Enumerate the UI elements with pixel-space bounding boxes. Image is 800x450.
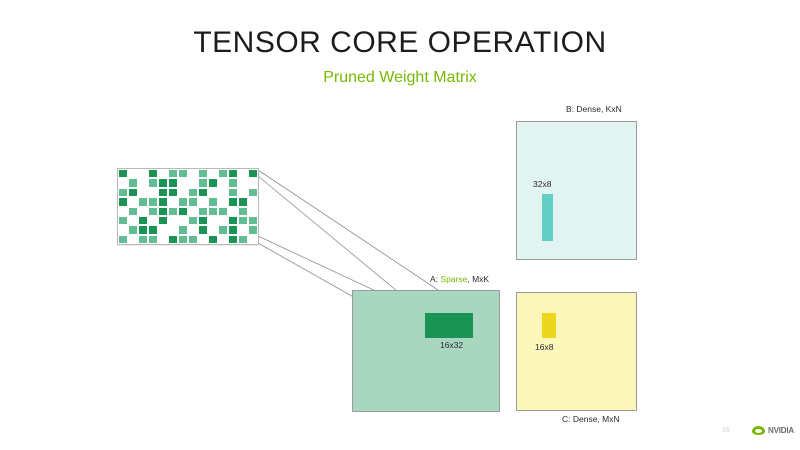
pruned-cell bbox=[178, 188, 188, 197]
pruned-cell bbox=[208, 225, 218, 234]
pruned-cell bbox=[118, 169, 128, 178]
pruned-cell bbox=[128, 216, 138, 225]
pruned-cell bbox=[198, 235, 208, 244]
pruned-cell bbox=[138, 235, 148, 244]
pruned-cell bbox=[228, 225, 238, 234]
page-title: TENSOR CORE OPERATION bbox=[0, 26, 800, 60]
pruned-cell bbox=[228, 178, 238, 187]
pruned-cell bbox=[158, 178, 168, 187]
matrix-a-caption-accent: Sparse bbox=[440, 274, 467, 284]
page-number: 16 bbox=[722, 427, 730, 434]
pruned-cell bbox=[118, 216, 128, 225]
matrix-b-tile[interactable] bbox=[542, 194, 553, 241]
pruned-cell bbox=[128, 197, 138, 206]
pruned-cell bbox=[208, 188, 218, 197]
pruned-cell bbox=[118, 207, 128, 216]
pruned-cell bbox=[178, 216, 188, 225]
nvidia-logo: NVIDIA bbox=[752, 426, 794, 435]
pruned-cell bbox=[218, 225, 228, 234]
matrix-a-tile[interactable] bbox=[425, 313, 473, 338]
pruned-cell bbox=[238, 207, 248, 216]
pruned-cell bbox=[158, 225, 168, 234]
pruned-cell bbox=[178, 207, 188, 216]
pruned-cell bbox=[238, 169, 248, 178]
pruned-cell bbox=[208, 235, 218, 244]
matrix-a-caption-suffix: , MxK bbox=[467, 274, 489, 284]
pruned-cell bbox=[118, 188, 128, 197]
pruned-weight-matrix-grid bbox=[117, 168, 259, 245]
pruned-cell bbox=[238, 188, 248, 197]
pruned-cell bbox=[168, 169, 178, 178]
pruned-cell bbox=[238, 235, 248, 244]
pruned-cell bbox=[208, 178, 218, 187]
pruned-cell bbox=[228, 235, 238, 244]
pruned-cell bbox=[198, 178, 208, 187]
pruned-cell bbox=[208, 207, 218, 216]
pruned-cell bbox=[248, 197, 258, 206]
pruned-cell bbox=[178, 235, 188, 244]
pruned-cell bbox=[188, 207, 198, 216]
pruned-cell bbox=[158, 188, 168, 197]
pruned-cell bbox=[198, 216, 208, 225]
matrix-b-caption: B: Dense, KxN bbox=[566, 104, 622, 114]
matrix-a-tile-label: 16x32 bbox=[440, 340, 463, 350]
matrix-c-tile-label: 16x8 bbox=[535, 342, 553, 352]
pruned-cell bbox=[218, 197, 228, 206]
pruned-cell bbox=[238, 197, 248, 206]
pruned-cell bbox=[168, 235, 178, 244]
pruned-cell bbox=[168, 207, 178, 216]
pruned-cell bbox=[148, 235, 158, 244]
pruned-cell bbox=[138, 216, 148, 225]
pruned-cell bbox=[148, 169, 158, 178]
pruned-cell bbox=[238, 216, 248, 225]
pruned-cell bbox=[198, 197, 208, 206]
pruned-cell bbox=[138, 225, 148, 234]
pruned-cell bbox=[208, 169, 218, 178]
pruned-cell bbox=[128, 188, 138, 197]
pruned-cell bbox=[158, 207, 168, 216]
pruned-cell bbox=[138, 188, 148, 197]
pruned-cell bbox=[128, 207, 138, 216]
pruned-cell bbox=[248, 225, 258, 234]
pruned-cell bbox=[118, 235, 128, 244]
matrix-b-box[interactable] bbox=[516, 121, 637, 260]
pruned-cell bbox=[188, 225, 198, 234]
pruned-cell bbox=[148, 216, 158, 225]
pruned-cell bbox=[128, 235, 138, 244]
matrix-c-tile[interactable] bbox=[542, 313, 556, 338]
pruned-cell bbox=[188, 188, 198, 197]
pruned-cell bbox=[218, 178, 228, 187]
pruned-cell bbox=[228, 188, 238, 197]
pruned-cell bbox=[178, 197, 188, 206]
pruned-cell bbox=[198, 188, 208, 197]
pruned-cell bbox=[198, 169, 208, 178]
pruned-cell bbox=[198, 225, 208, 234]
pruned-cell bbox=[198, 207, 208, 216]
pruned-cell bbox=[168, 225, 178, 234]
pruned-cell bbox=[148, 178, 158, 187]
pruned-cell bbox=[178, 178, 188, 187]
page-subtitle: Pruned Weight Matrix bbox=[0, 69, 800, 87]
pruned-cell bbox=[118, 178, 128, 187]
pruned-cell bbox=[218, 188, 228, 197]
pruned-cell bbox=[138, 169, 148, 178]
matrix-a-caption: A: Sparse, MxK bbox=[430, 274, 489, 284]
pruned-cell bbox=[228, 207, 238, 216]
pruned-cell bbox=[238, 178, 248, 187]
pruned-cell bbox=[118, 197, 128, 206]
pruned-cell bbox=[248, 188, 258, 197]
pruned-cell bbox=[118, 225, 128, 234]
pruned-cell bbox=[228, 197, 238, 206]
pruned-cell bbox=[158, 235, 168, 244]
pruned-cell bbox=[168, 178, 178, 187]
pruned-cell bbox=[228, 216, 238, 225]
pruned-cell bbox=[188, 178, 198, 187]
matrix-a-caption-prefix: A: bbox=[430, 274, 440, 284]
matrix-b-tile-label: 32x8 bbox=[533, 179, 551, 189]
pruned-cell bbox=[208, 197, 218, 206]
pruned-cell bbox=[138, 197, 148, 206]
pruned-cell bbox=[128, 225, 138, 234]
pruned-cell bbox=[218, 207, 228, 216]
pruned-cell bbox=[248, 235, 258, 244]
pruned-cell bbox=[218, 216, 228, 225]
matrix-a-box[interactable] bbox=[352, 290, 500, 412]
pruned-cell bbox=[178, 169, 188, 178]
nvidia-wordmark: NVIDIA bbox=[768, 426, 794, 435]
pruned-cell bbox=[158, 197, 168, 206]
matrix-c-caption: C: Dense, MxN bbox=[562, 414, 620, 424]
pruned-cell bbox=[168, 216, 178, 225]
pruned-cell bbox=[218, 235, 228, 244]
pruned-cell bbox=[248, 216, 258, 225]
pruned-cell bbox=[148, 197, 158, 206]
nvidia-eye-icon bbox=[752, 426, 765, 435]
pruned-cell bbox=[208, 216, 218, 225]
pruned-cell bbox=[188, 235, 198, 244]
pruned-cell bbox=[128, 178, 138, 187]
pruned-cell bbox=[128, 169, 138, 178]
pruned-cell bbox=[218, 169, 228, 178]
pruned-cell bbox=[188, 169, 198, 178]
pruned-cell bbox=[248, 207, 258, 216]
pruned-cell bbox=[188, 197, 198, 206]
pruned-cell bbox=[168, 188, 178, 197]
pruned-cell bbox=[178, 225, 188, 234]
pruned-cell bbox=[158, 216, 168, 225]
pruned-cell bbox=[158, 169, 168, 178]
pruned-cell bbox=[148, 225, 158, 234]
pruned-cell bbox=[248, 169, 258, 178]
pruned-cell bbox=[238, 225, 248, 234]
pruned-cell bbox=[188, 216, 198, 225]
pruned-cell bbox=[138, 178, 148, 187]
pruned-cell bbox=[228, 169, 238, 178]
pruned-cell bbox=[148, 188, 158, 197]
pruned-cell bbox=[148, 207, 158, 216]
pruned-cell bbox=[168, 197, 178, 206]
pruned-cell bbox=[248, 178, 258, 187]
pruned-cell bbox=[138, 207, 148, 216]
